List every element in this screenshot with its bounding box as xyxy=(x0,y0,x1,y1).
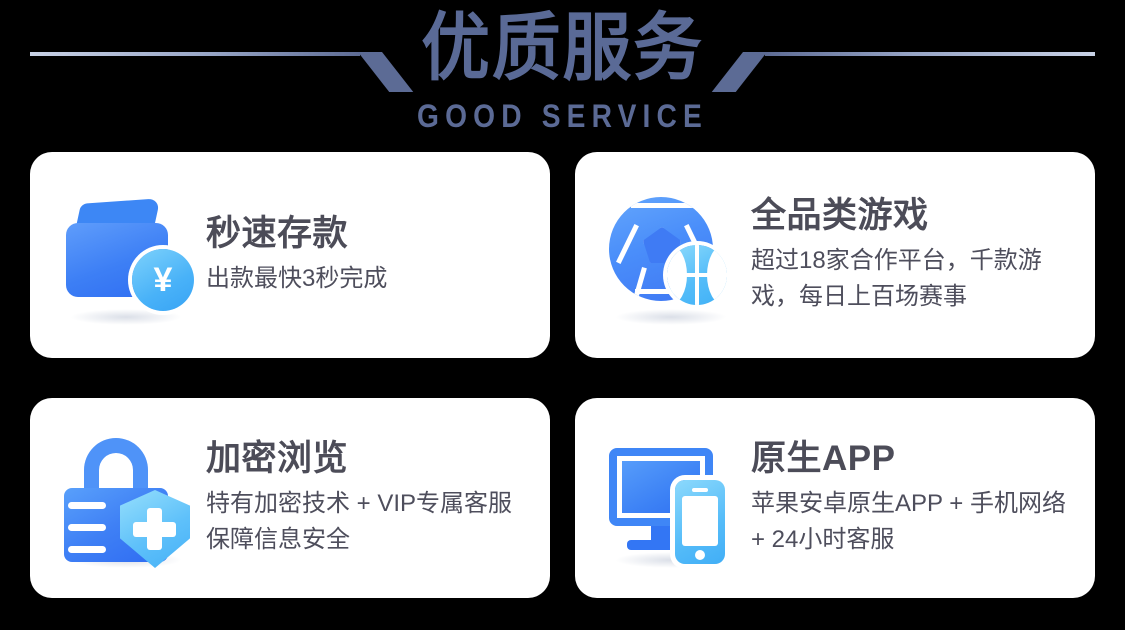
feature-card-grid: ¥ 秒速存款 出款最快3秒完成 xyxy=(30,152,1095,598)
lock-slot xyxy=(68,546,106,553)
card-description: 苹果安卓原生APP + 手机网络 + 24小时客服 xyxy=(751,486,1081,558)
plus-icon xyxy=(133,522,176,537)
feature-card-deposit[interactable]: ¥ 秒速存款 出款最快3秒完成 xyxy=(30,152,550,358)
ball-seam xyxy=(616,224,639,264)
yen-coin-icon: ¥ xyxy=(132,249,194,311)
icon-shadow xyxy=(615,309,727,325)
basketball-curve xyxy=(667,245,687,305)
card-title: 全品类游戏 xyxy=(751,195,1081,237)
soccer-basketball-icon xyxy=(605,189,737,321)
phone-home-button xyxy=(695,550,705,560)
ball-seam xyxy=(631,203,693,208)
promo-banner: 优质服务 GOOD SERVICE ¥ 秒速存款 出款最快3秒完成 xyxy=(0,0,1125,630)
lock-slot xyxy=(68,524,106,531)
icon-shadow xyxy=(70,309,182,325)
card-text-block: 加密浏览 特有加密技术 + VIP专属客服保障信息安全 xyxy=(206,438,550,558)
card-title: 加密浏览 xyxy=(206,438,536,480)
header: 优质服务 GOOD SERVICE xyxy=(0,0,1125,146)
card-text-block: 秒速存款 出款最快3秒完成 xyxy=(206,213,550,297)
card-text-block: 原生APP 苹果安卓原生APP + 手机网络 + 24小时客服 xyxy=(751,438,1095,558)
card-title: 秒速存款 xyxy=(206,213,536,255)
basketball-curve xyxy=(707,245,727,305)
card-description: 超过18家合作平台，千款游戏，每日上百场赛事 xyxy=(751,243,1081,315)
card-title: 原生APP xyxy=(751,438,1081,480)
card-description: 出款最快3秒完成 xyxy=(206,261,536,297)
card-text-block: 全品类游戏 超过18家合作平台，千款游戏，每日上百场赛事 xyxy=(751,195,1095,315)
page-subtitle: GOOD SERVICE xyxy=(68,98,1058,134)
monitor-phone-icon xyxy=(605,432,737,564)
wallet-coin-icon: ¥ xyxy=(60,189,192,321)
ball-seam xyxy=(632,267,647,301)
lock-shield-icon xyxy=(60,432,192,564)
phone-speaker xyxy=(692,488,708,492)
card-description: 特有加密技术 + VIP专属客服保障信息安全 xyxy=(206,486,536,558)
feature-card-games[interactable]: 全品类游戏 超过18家合作平台，千款游戏，每日上百场赛事 xyxy=(575,152,1095,358)
feature-card-encryption[interactable]: 加密浏览 特有加密技术 + VIP专属客服保障信息安全 xyxy=(30,398,550,598)
basketball-icon xyxy=(667,245,727,305)
page-title: 优质服务 xyxy=(39,6,1085,90)
feature-card-native-app[interactable]: 原生APP 苹果安卓原生APP + 手机网络 + 24小时客服 xyxy=(575,398,1095,598)
smartphone-icon xyxy=(675,480,725,564)
phone-screen xyxy=(682,496,718,546)
lock-slot xyxy=(68,502,106,509)
